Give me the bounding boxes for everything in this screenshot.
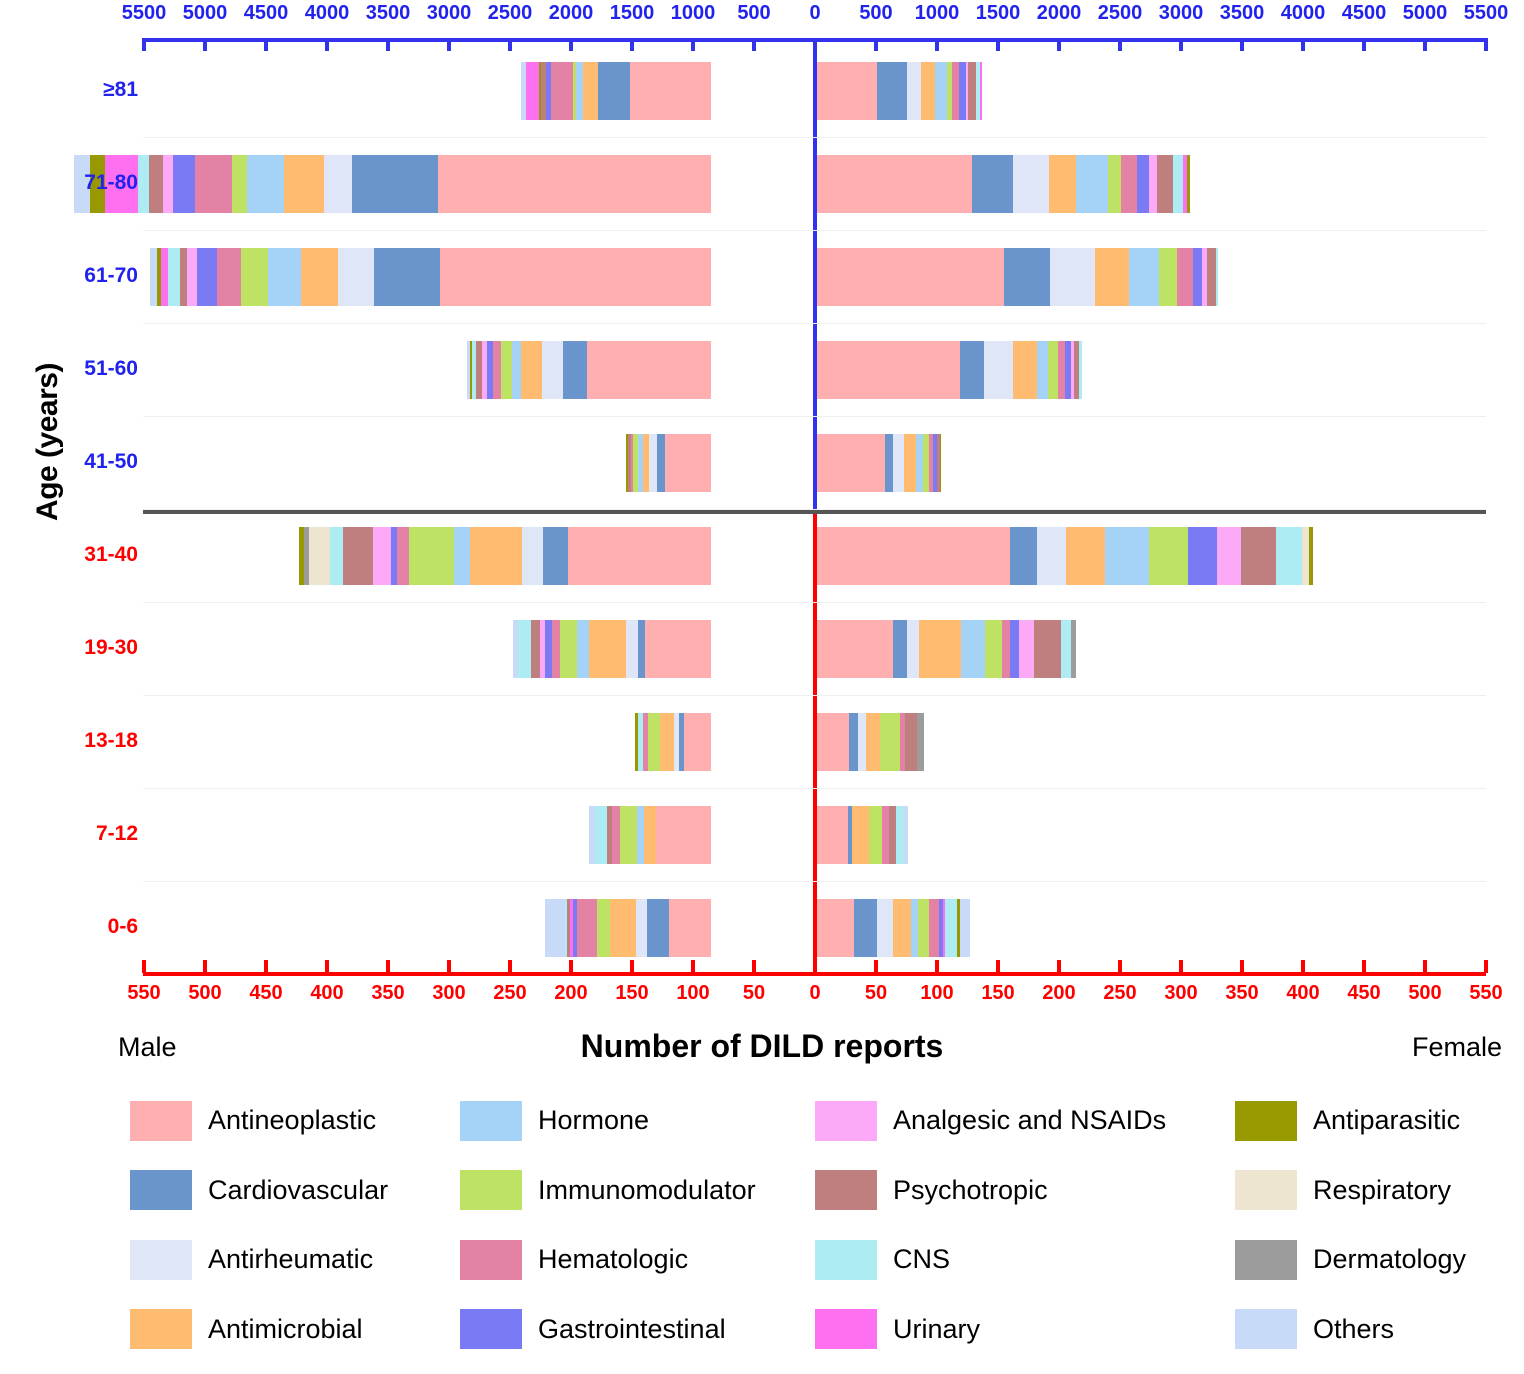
- bar-segment: [648, 713, 660, 771]
- axis-tick-label: 2500: [488, 2, 533, 25]
- bar-segment: [343, 527, 373, 585]
- bar-segment: [817, 248, 1004, 306]
- bar-segment: [916, 434, 923, 492]
- row-separator: [143, 230, 1486, 231]
- axis-tick-label: 150: [981, 982, 1014, 1005]
- bar-segment: [1034, 620, 1061, 678]
- axis-tick-label: 4500: [1342, 2, 1387, 25]
- bar-segment: [247, 155, 284, 213]
- bar-segment: [1105, 527, 1149, 585]
- legend-swatch-icon: [1235, 1240, 1297, 1280]
- axis-tick-label: 2000: [1037, 2, 1082, 25]
- bar-segment: [929, 899, 938, 957]
- bar-segment: [636, 899, 647, 957]
- bar-segment: [952, 62, 959, 120]
- bar-segment: [180, 248, 187, 306]
- bar-segment: [647, 899, 669, 957]
- bar-row: [0, 899, 1524, 957]
- bar-segment: [1048, 341, 1058, 399]
- bar-male: [74, 155, 711, 213]
- bar-segment: [493, 341, 501, 399]
- row-separator: [143, 788, 1486, 789]
- bar-segment: [241, 248, 268, 306]
- bar-segment: [284, 155, 324, 213]
- bar-segment: [577, 620, 589, 678]
- axis-tick-label: 0: [809, 2, 820, 25]
- bar-segment: [1061, 620, 1071, 678]
- legend-label: Antimicrobial: [208, 1314, 363, 1345]
- bar-segment: [595, 806, 607, 864]
- axis-tick-label: 1000: [671, 2, 716, 25]
- axis-tick-label: 4500: [244, 2, 289, 25]
- y-axis-category-label: 13-18: [84, 729, 138, 753]
- bar-segment: [168, 248, 180, 306]
- x-axis-title: Number of DILD reports: [0, 1028, 1524, 1065]
- axis-tick-label: 3000: [1159, 2, 1204, 25]
- legend-label: Psychotropic: [893, 1175, 1048, 1206]
- bar-segment: [543, 527, 568, 585]
- bar-segment: [638, 620, 645, 678]
- bar-segment: [173, 155, 195, 213]
- legend-item[interactable]: Gastrointestinal: [460, 1309, 815, 1349]
- female-side-label: Female: [1412, 1032, 1502, 1063]
- legend-item[interactable]: Others: [1235, 1309, 1520, 1349]
- bar-row: [0, 155, 1524, 213]
- legend-item[interactable]: Urinary: [815, 1309, 1235, 1349]
- bar-segment: [352, 155, 437, 213]
- bar-segment: [1187, 155, 1189, 213]
- legend-label: Gastrointestinal: [538, 1314, 726, 1345]
- bar-segment: [877, 899, 893, 957]
- bar-segment: [1216, 248, 1218, 306]
- legend-label: Hormone: [538, 1105, 649, 1136]
- bar-segment: [817, 155, 972, 213]
- y-axis-category-label: 19-30: [84, 636, 138, 660]
- axis-tick-label: 200: [554, 982, 587, 1005]
- axis-tick-label: 3500: [1220, 2, 1265, 25]
- bar-segment: [972, 155, 1013, 213]
- axis-tick-label: 350: [371, 982, 404, 1005]
- bar-segment: [657, 434, 665, 492]
- legend-label: Antiparasitic: [1313, 1105, 1460, 1136]
- bar-segment: [197, 248, 217, 306]
- bar-segment: [518, 620, 530, 678]
- bar-segment: [440, 248, 711, 306]
- axis-tick-label: 100: [676, 982, 709, 1005]
- bar-male: [467, 341, 711, 399]
- bar-segment: [522, 527, 543, 585]
- axis-tick-label: 250: [1103, 982, 1136, 1005]
- legend-swatch-icon: [130, 1309, 192, 1349]
- bar-segment: [531, 620, 541, 678]
- bar-segment: [409, 527, 455, 585]
- bar-segment: [1217, 527, 1241, 585]
- legend-label: Antineoplastic: [208, 1105, 376, 1136]
- axis-tick-label: 500: [1408, 982, 1441, 1005]
- bar-segment: [1207, 248, 1216, 306]
- axis-tick-label: 250: [493, 982, 526, 1005]
- axis-tick-label: 5000: [183, 2, 228, 25]
- legend-label: Others: [1313, 1314, 1394, 1345]
- bar-segment: [610, 899, 636, 957]
- bar-segment: [542, 341, 563, 399]
- bar-segment: [560, 620, 577, 678]
- legend-item[interactable]: CNS: [815, 1240, 1235, 1280]
- bar-segment: [576, 62, 583, 120]
- bar-segment: [665, 434, 711, 492]
- bar-segment: [684, 713, 711, 771]
- legend-label: Dermatology: [1313, 1244, 1466, 1275]
- legend-item[interactable]: Cardiovascular: [130, 1170, 460, 1210]
- bar-male: [150, 248, 711, 306]
- legend-label: Antirheumatic: [208, 1244, 373, 1275]
- axis-tick-label: 1000: [915, 2, 960, 25]
- bar-segment: [817, 806, 848, 864]
- bar-segment: [1309, 527, 1314, 585]
- bar-segment: [217, 248, 241, 306]
- legend-item[interactable]: Hormone: [460, 1101, 815, 1141]
- axis-tick-label: 300: [432, 982, 465, 1005]
- bar-male: [521, 62, 711, 120]
- bar-segment: [374, 248, 440, 306]
- bar-segment: [649, 434, 656, 492]
- axis-tick-label: 1500: [976, 2, 1021, 25]
- bar-segment: [882, 806, 889, 864]
- bar-segment: [644, 806, 656, 864]
- bar-male: [513, 620, 711, 678]
- bar-segment: [163, 155, 173, 213]
- axis-tick-label: 450: [1347, 982, 1380, 1005]
- bar-female: [817, 155, 1190, 213]
- bar-segment: [589, 620, 626, 678]
- bar-segment: [643, 434, 650, 492]
- bar-segment: [985, 620, 1002, 678]
- bar-segment: [470, 527, 522, 585]
- axis-tick-label: 3500: [366, 2, 411, 25]
- axis-tick-label: 1500: [610, 2, 655, 25]
- legend-label: Cardiovascular: [208, 1175, 388, 1206]
- bar-segment: [597, 899, 610, 957]
- axis-tick-label: 4000: [1281, 2, 1326, 25]
- axis-tick-label: 5000: [1403, 2, 1448, 25]
- legend-item[interactable]: Antineoplastic: [130, 1101, 460, 1141]
- bar-female: [817, 248, 1218, 306]
- bar-segment: [904, 434, 916, 492]
- bar-segment: [1013, 155, 1048, 213]
- bar-segment: [1108, 155, 1121, 213]
- bar-segment: [921, 62, 936, 120]
- bar-segment: [1004, 248, 1050, 306]
- bar-male: [545, 899, 711, 957]
- legend-item[interactable]: Antimicrobial: [130, 1309, 460, 1349]
- bar-row: [0, 434, 1524, 492]
- axis-tick-label: 5500: [1464, 2, 1509, 25]
- bar-segment: [896, 806, 903, 864]
- bar-segment: [854, 899, 877, 957]
- bar-segment: [568, 527, 711, 585]
- legend-label: CNS: [893, 1244, 950, 1275]
- bar-female: [817, 899, 970, 957]
- bar-segment: [918, 899, 929, 957]
- bar-segment: [817, 620, 893, 678]
- bar-segment: [545, 899, 565, 957]
- legend-label: Immunomodulator: [538, 1175, 756, 1206]
- legend-swatch-icon: [460, 1101, 522, 1141]
- legend-label: Analgesic and NSAIDs: [893, 1105, 1166, 1136]
- legend-swatch-icon: [130, 1170, 192, 1210]
- row-separator: [143, 695, 1486, 696]
- bar-row: [0, 713, 1524, 771]
- bar-segment: [911, 899, 918, 957]
- bar-segment: [907, 620, 919, 678]
- legend-item[interactable]: Immunomodulator: [460, 1170, 815, 1210]
- bar-female: [817, 341, 1082, 399]
- row-separator: [143, 137, 1486, 138]
- bar-segment: [877, 62, 908, 120]
- bar-segment: [1002, 620, 1009, 678]
- bar-row: [0, 620, 1524, 678]
- bar-segment: [904, 806, 909, 864]
- axis-tick-label: 2500: [1098, 2, 1143, 25]
- legend-swatch-icon: [815, 1309, 877, 1349]
- bar-segment: [817, 341, 960, 399]
- bar-segment: [961, 620, 985, 678]
- bar-segment: [552, 620, 559, 678]
- bar-segment: [817, 713, 849, 771]
- bar-segment: [195, 155, 232, 213]
- axis-tick-label: 50: [743, 982, 765, 1005]
- male-side-label: Male: [118, 1032, 177, 1063]
- legend-item[interactable]: Respiratory: [1235, 1170, 1520, 1210]
- axis-tick-label: 100: [920, 982, 953, 1005]
- axis-tick-label: 500: [859, 2, 892, 25]
- bar-segment: [945, 899, 956, 957]
- bar-segment: [980, 62, 982, 120]
- axis-tick-label: 550: [1469, 982, 1502, 1005]
- bar-segment: [1159, 248, 1177, 306]
- bar-segment: [817, 527, 1010, 585]
- y-axis-category-label: 71-80: [84, 171, 138, 195]
- bar-row: [0, 62, 1524, 120]
- legend-swatch-icon: [130, 1101, 192, 1141]
- legend: AntineoplasticHormoneAnalgesic and NSAID…: [130, 1086, 1520, 1364]
- bar-segment: [501, 341, 512, 399]
- bar-segment: [889, 806, 896, 864]
- bar-segment: [1079, 341, 1082, 399]
- row-separator: [143, 602, 1486, 603]
- bar-segment: [880, 713, 900, 771]
- bar-segment: [1121, 155, 1136, 213]
- bar-segment: [521, 341, 542, 399]
- axis-tick-label: 150: [615, 982, 648, 1005]
- bar-segment: [1173, 155, 1183, 213]
- bar-segment: [858, 713, 865, 771]
- row-separator: [143, 881, 1486, 882]
- legend-swatch-icon: [1235, 1101, 1297, 1141]
- legend-item[interactable]: Hematologic: [460, 1240, 815, 1280]
- bar-segment: [935, 62, 947, 120]
- bar-segment: [660, 713, 675, 771]
- bar-segment: [438, 155, 711, 213]
- y-axis-category-label: 7-12: [96, 822, 138, 846]
- legend-swatch-icon: [815, 1101, 877, 1141]
- legend-swatch-icon: [460, 1309, 522, 1349]
- bar-segment: [1066, 527, 1105, 585]
- bar-row: [0, 248, 1524, 306]
- dild-age-pyramid-chart: 5500500045004000350030002500200015001000…: [0, 0, 1524, 1374]
- bar-segment: [1149, 527, 1188, 585]
- bar-segment: [551, 62, 573, 120]
- axis-tick-label: 500: [188, 982, 221, 1005]
- bar-female: [817, 434, 941, 492]
- bar-segment: [817, 899, 854, 957]
- bar-segment: [656, 806, 711, 864]
- bar-segment: [968, 62, 977, 120]
- bar-segment: [512, 341, 522, 399]
- bar-segment: [817, 434, 885, 492]
- axis-tick-label: 300: [1164, 982, 1197, 1005]
- y-axis-category-label: 51-60: [84, 357, 138, 381]
- y-axis-category-label: 41-50: [84, 450, 138, 474]
- bar-segment: [869, 806, 881, 864]
- bar-male: [635, 713, 711, 771]
- bar-segment: [1058, 341, 1065, 399]
- bar-segment: [268, 248, 301, 306]
- bar-segment: [526, 62, 539, 120]
- legend-item[interactable]: Dermatology: [1235, 1240, 1520, 1280]
- bar-segment: [397, 527, 408, 585]
- legend-item[interactable]: Antirheumatic: [130, 1240, 460, 1280]
- bar-segment: [893, 620, 908, 678]
- row-separator: [143, 323, 1486, 324]
- axis-tick-label: 0: [809, 982, 820, 1005]
- bar-row: [0, 527, 1524, 585]
- axis-tick-label: 4000: [305, 2, 350, 25]
- bar-segment: [577, 899, 597, 957]
- axis-tick-label: 550: [127, 982, 160, 1005]
- legend-swatch-icon: [815, 1170, 877, 1210]
- y-axis-category-label: 0-6: [108, 915, 138, 939]
- legend-item[interactable]: Analgesic and NSAIDs: [815, 1101, 1235, 1141]
- axis-tick-label: 2000: [549, 2, 594, 25]
- bar-female: [817, 713, 924, 771]
- bar-segment: [1076, 155, 1108, 213]
- bar-segment: [1010, 620, 1020, 678]
- bar-segment: [817, 62, 877, 120]
- bar-segment: [612, 806, 619, 864]
- bar-segment: [960, 899, 969, 957]
- legend-swatch-icon: [815, 1240, 877, 1280]
- axis-tick-label: 400: [1286, 982, 1319, 1005]
- top-axis-tick-labels: 5500500045004000350030002500200015001000…: [0, 2, 1524, 28]
- bar-segment: [373, 527, 391, 585]
- bar-segment: [984, 341, 1013, 399]
- bar-segment: [849, 713, 859, 771]
- bar-segment: [917, 713, 924, 771]
- bar-segment: [301, 248, 338, 306]
- axis-tick-label: 50: [865, 982, 887, 1005]
- bar-segment: [1050, 248, 1095, 306]
- bar-male: [299, 527, 711, 585]
- bar-segment: [959, 62, 966, 120]
- bar-segment: [1149, 155, 1156, 213]
- legend-swatch-icon: [130, 1240, 192, 1280]
- bar-segment: [1019, 620, 1034, 678]
- legend-item[interactable]: Psychotropic: [815, 1170, 1235, 1210]
- bar-segment: [1010, 527, 1037, 585]
- bar-segment: [1188, 527, 1217, 585]
- bar-segment: [309, 527, 330, 585]
- bar-segment: [1177, 248, 1193, 306]
- bar-segment: [893, 899, 911, 957]
- bar-segment: [587, 341, 711, 399]
- bar-segment: [919, 620, 960, 678]
- axis-tick-label: 5500: [122, 2, 167, 25]
- bar-segment: [1276, 527, 1303, 585]
- axis-tick-label: 400: [310, 982, 343, 1005]
- bar-segment: [149, 155, 162, 213]
- bar-row: [0, 806, 1524, 864]
- bar-segment: [905, 713, 917, 771]
- bar-segment: [866, 713, 881, 771]
- bar-segment: [454, 527, 470, 585]
- bar-segment: [893, 434, 905, 492]
- bar-segment: [138, 155, 149, 213]
- legend-label: Respiratory: [1313, 1175, 1451, 1206]
- row-separator: [143, 509, 1486, 510]
- legend-swatch-icon: [1235, 1309, 1297, 1349]
- bar-segment: [940, 434, 942, 492]
- bar-segment: [1037, 341, 1048, 399]
- bar-segment: [232, 155, 248, 213]
- bar-segment: [626, 620, 638, 678]
- bar-segment: [620, 806, 637, 864]
- bar-female: [817, 527, 1336, 585]
- bar-female: [817, 62, 982, 120]
- bar-segment: [545, 620, 552, 678]
- bar-segment: [161, 248, 168, 306]
- y-axis-category-label: ≥81: [103, 78, 138, 102]
- legend-swatch-icon: [1235, 1170, 1297, 1210]
- bar-segment: [1013, 341, 1037, 399]
- bar-segment: [1241, 527, 1275, 585]
- legend-item[interactable]: Antiparasitic: [1235, 1101, 1520, 1141]
- axis-tick-label: 3000: [427, 2, 472, 25]
- bar-segment: [645, 620, 711, 678]
- age-group-scale-divider: [143, 510, 1486, 514]
- bar-segment: [583, 62, 598, 120]
- bar-segment: [1037, 527, 1066, 585]
- bar-female: [817, 620, 1076, 678]
- bar-segment: [630, 62, 711, 120]
- bar-segment: [1193, 248, 1203, 306]
- bar-male: [626, 434, 711, 492]
- bar-segment: [1157, 155, 1173, 213]
- axis-tick-label: 350: [1225, 982, 1258, 1005]
- bar-male: [589, 806, 711, 864]
- y-axis-category-label: 31-40: [84, 543, 138, 567]
- bar-segment: [852, 806, 869, 864]
- bar-segment: [330, 527, 344, 585]
- legend-label: Urinary: [893, 1314, 980, 1345]
- bar-segment: [1137, 155, 1150, 213]
- bar-segment: [637, 806, 644, 864]
- bar-segment: [960, 341, 984, 399]
- axis-tick-label: 500: [737, 2, 770, 25]
- legend-swatch-icon: [460, 1240, 522, 1280]
- bar-segment: [1071, 620, 1076, 678]
- y-axis-title: Age (years): [31, 332, 65, 552]
